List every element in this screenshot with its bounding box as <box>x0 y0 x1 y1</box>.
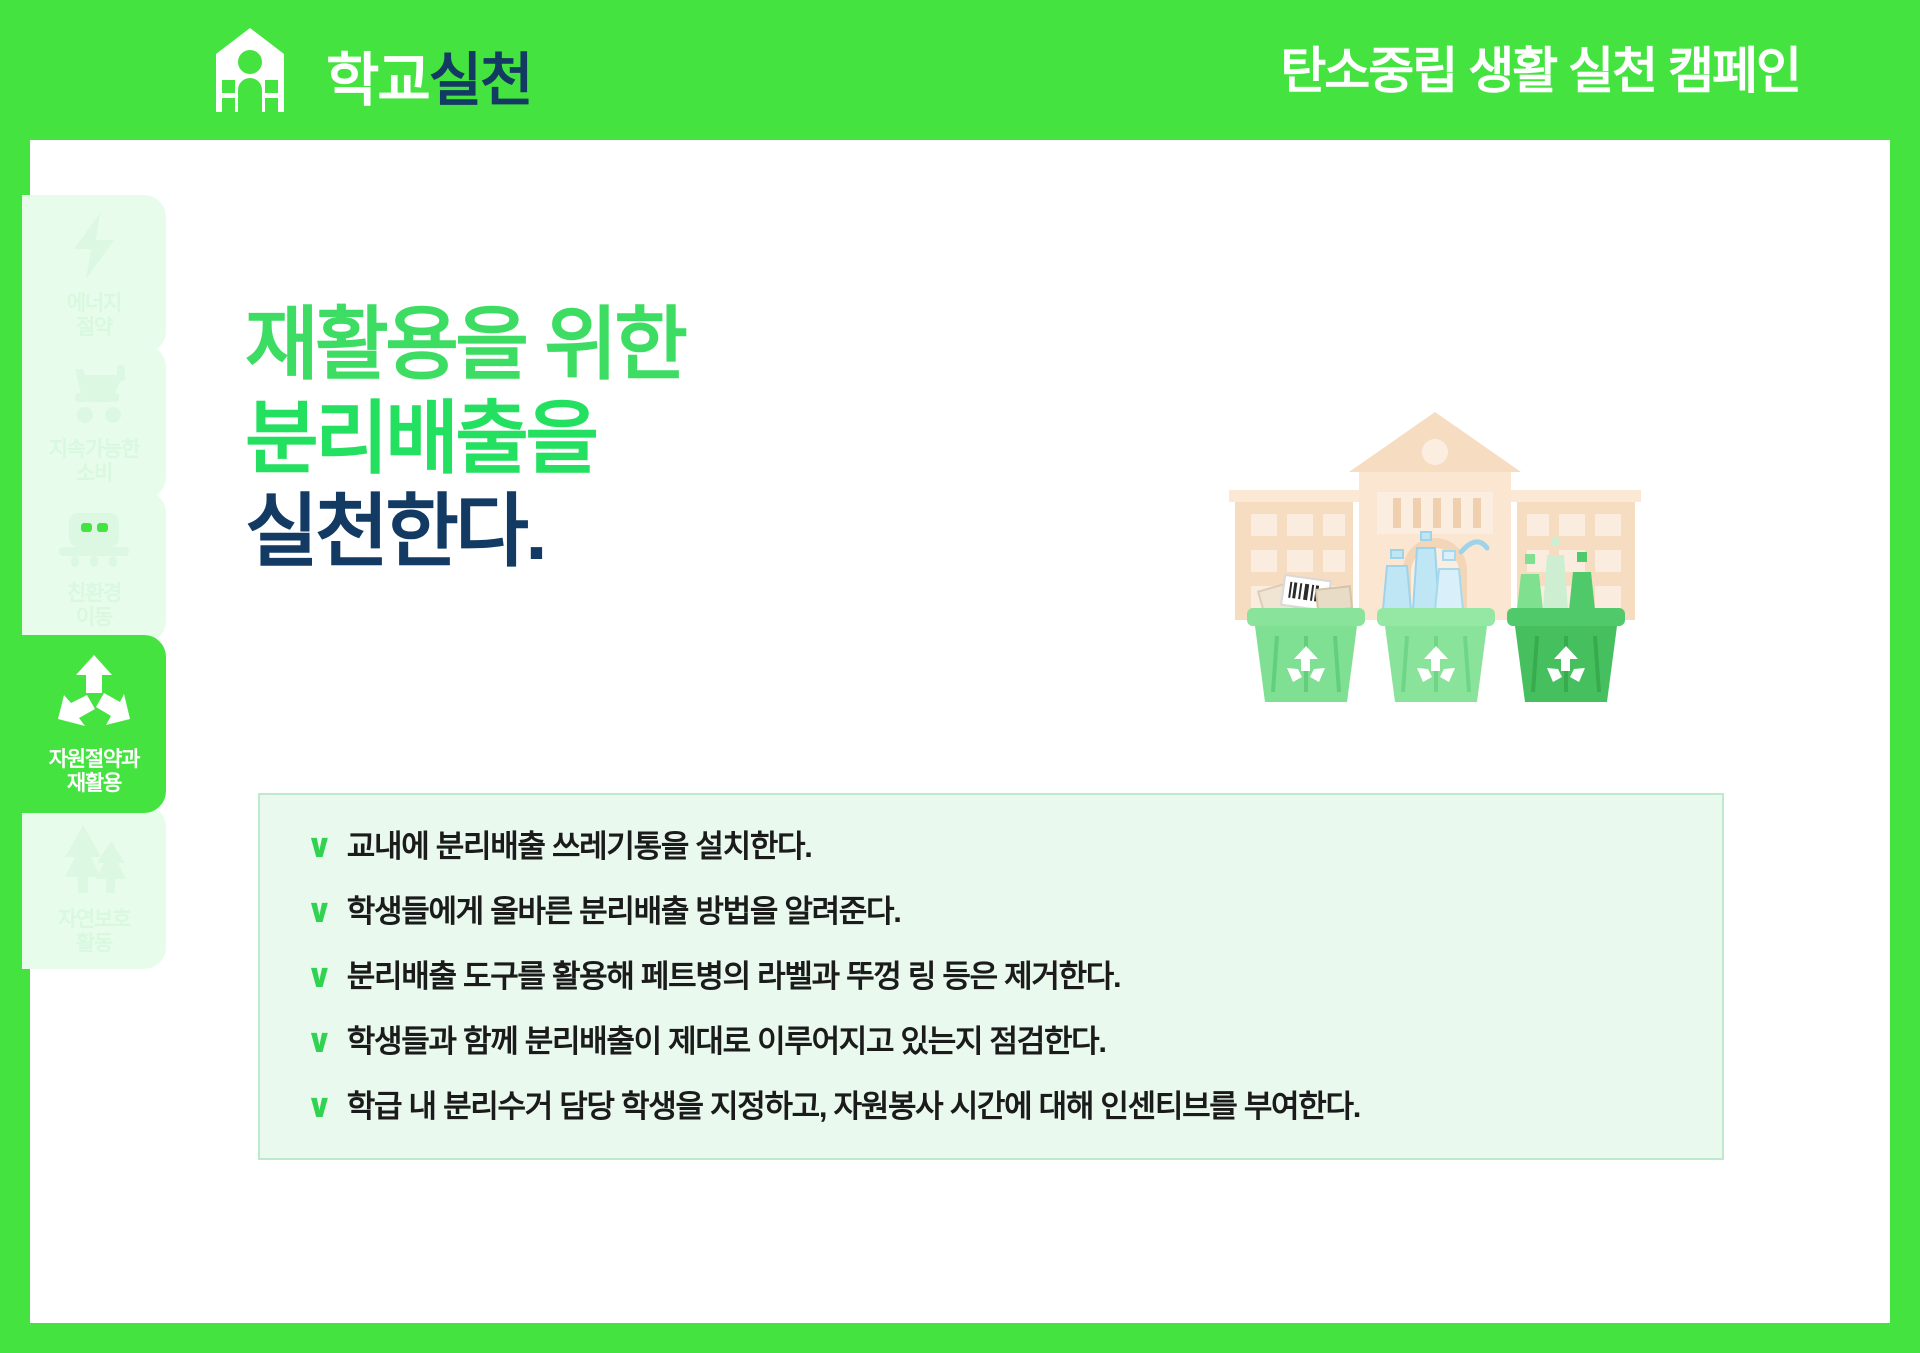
checkmark-icon: ∨ <box>306 959 333 992</box>
page-title: 재활용을 위한 분리배출을 실천한다. <box>245 298 684 579</box>
list-item-label: 학생들과 함께 분리배출이 제대로 이루어지고 있는지 점검한다. <box>347 1025 1106 1059</box>
sidebar-item-eco-transport[interactable]: 친환경 이동 <box>22 491 166 643</box>
list-item: ∨ 학생들에게 올바른 분리배출 방법을 알려준다. <box>280 894 1722 929</box>
list-item-label: 교내에 분리배출 쓰레기통을 설치한다. <box>347 830 812 864</box>
sidebar-item-nature-protection[interactable]: 자연보호 활동 <box>22 805 166 969</box>
brand-text-white: 학교 <box>326 48 429 113</box>
headline-line-3: 실천한다. <box>245 485 684 579</box>
sidebar-item-sustainable-consumption[interactable]: 지속가능한 소비 <box>22 345 166 499</box>
school-building-icon <box>196 28 304 112</box>
content-card: 에너지 절약 지속가능한 소비 <box>30 140 1890 1323</box>
headline-line-2: 분리배출을 <box>245 392 684 486</box>
sidebar-item-label: 자연보호 활동 <box>30 908 158 955</box>
checkmark-icon: ∨ <box>306 894 333 927</box>
brand-text-dark: 실천 <box>429 48 532 113</box>
trees-icon <box>30 823 158 900</box>
brand: 학교실천 <box>196 28 531 112</box>
list-item-label: 학생들에게 올바른 분리배출 방법을 알려준다. <box>347 895 901 929</box>
practice-list-panel: ∨ 교내에 분리배출 쓰레기통을 설치한다. ∨ 학생들에게 올바른 분리배출 … <box>258 793 1724 1160</box>
sidebar-item-energy-saving[interactable]: 에너지 절약 <box>22 195 166 353</box>
list-item-label: 학급 내 분리수거 담당 학생을 지정하고, 자원봉사 시간에 대해 인센티브를… <box>347 1090 1360 1124</box>
list-item: ∨ 학생들과 함께 분리배출이 제대로 이루어지고 있는지 점검한다. <box>280 1024 1722 1059</box>
practice-list: ∨ 교내에 분리배출 쓰레기통을 설치한다. ∨ 학생들에게 올바른 분리배출 … <box>260 795 1722 1124</box>
sidebar-item-label: 친환경 이동 <box>30 582 158 629</box>
bus-icon <box>30 509 158 574</box>
sidebar-item-label: 에너지 절약 <box>30 292 158 339</box>
sidebar-item-resource-saving-recycling[interactable]: 자원절약과 재활용 <box>22 635 166 813</box>
list-item: ∨ 학급 내 분리수거 담당 학생을 지정하고, 자원봉사 시간에 대해 인센티… <box>280 1089 1722 1124</box>
sidebar-item-label: 지속가능한 소비 <box>30 438 158 485</box>
list-item: ∨ 교내에 분리배출 쓰레기통을 설치한다. <box>280 829 1722 864</box>
brand-text: 학교실천 <box>326 52 531 112</box>
campaign-poster: 학교실천 탄소중립 생활 실천 캠페인 에너지 절약 <box>0 0 1920 1353</box>
category-rail: 에너지 절약 지속가능한 소비 <box>22 195 172 961</box>
lightning-bolt-icon <box>30 213 158 284</box>
checkmark-icon: ∨ <box>306 829 333 862</box>
sidebar-item-label: 자원절약과 재활용 <box>30 748 158 795</box>
list-item-label: 분리배출 도구를 활용해 페트병의 라벨과 뚜껑 링 등은 제거한다. <box>347 960 1121 994</box>
checkmark-icon: ∨ <box>306 1089 333 1122</box>
headline-line-1: 재활용을 위한 <box>245 298 684 392</box>
campaign-title: 탄소중립 생활 실천 캠페인 <box>1280 46 1800 96</box>
poster-header: 학교실천 탄소중립 생활 실천 캠페인 <box>0 0 1920 140</box>
shopping-cart-icon <box>30 363 158 430</box>
school-building-with-recycling-bins-illustration <box>1225 410 1645 720</box>
list-item: ∨ 분리배출 도구를 활용해 페트병의 라벨과 뚜껑 링 등은 제거한다. <box>280 959 1722 994</box>
checkmark-icon: ∨ <box>306 1024 333 1057</box>
recycle-icon <box>30 653 158 740</box>
